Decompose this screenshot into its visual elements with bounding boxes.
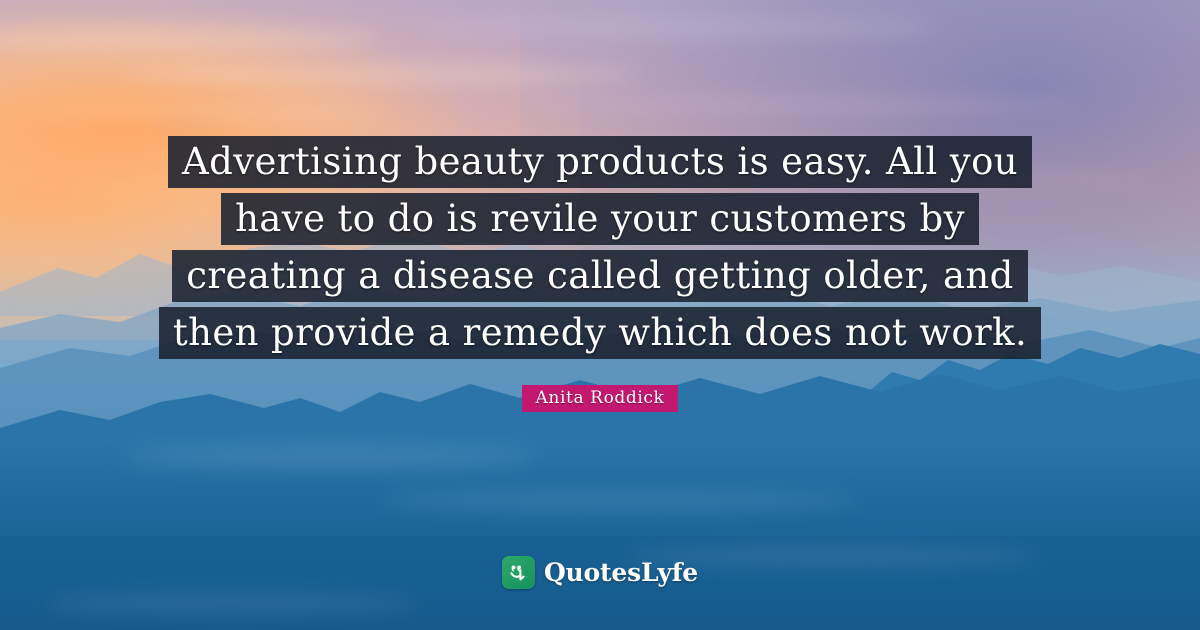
site-logo[interactable]: QuotesLyfe: [0, 556, 1200, 589]
haze-streak: [40, 596, 420, 610]
cloud-streak: [520, 96, 1080, 114]
haze-streak: [120, 446, 540, 468]
cloud-streak: [30, 104, 390, 120]
cloud-streak: [420, 16, 940, 38]
quote-text-block: Advertising beauty products is easy. All…: [0, 136, 1200, 359]
quote-smiley-icon: [502, 556, 535, 589]
cloud-spot: [150, 118, 220, 130]
quote-card: Advertising beauty products is easy. All…: [0, 0, 1200, 630]
quote-line: then provide a remedy which does not wor…: [159, 307, 1041, 359]
quote-line: Advertising beauty products is easy. All…: [168, 136, 1032, 188]
author-attribution: Anita Roddick: [0, 385, 1200, 412]
author-name-badge: Anita Roddick: [522, 385, 679, 412]
haze-streak: [380, 492, 860, 510]
quote-line: have to do is revile your customers by: [221, 193, 979, 245]
quote-line: creating a disease called getting older,…: [172, 250, 1028, 302]
site-wordmark: QuotesLyfe: [544, 558, 698, 588]
cloud-streak: [120, 64, 640, 84]
